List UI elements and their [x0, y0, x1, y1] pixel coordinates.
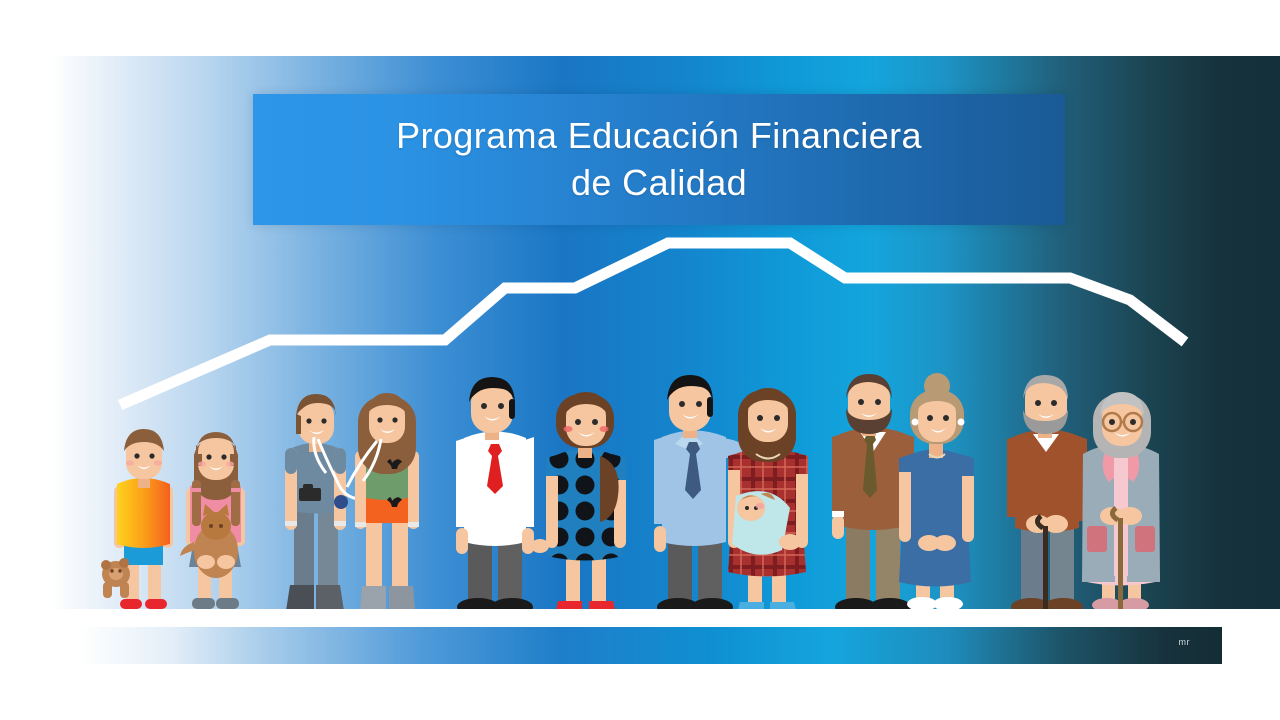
cane: [1043, 526, 1048, 609]
figure-mature-woman: [899, 373, 974, 609]
figure-child-boy: [101, 429, 173, 609]
teddy-bear-icon: [101, 558, 130, 598]
cane: [1118, 518, 1123, 609]
held-hands: [531, 539, 549, 553]
figure-young-man: [456, 377, 534, 609]
slide-canvas: Programa Educación Financiera de Calidad…: [0, 0, 1280, 720]
watermark-label: mr: [1179, 637, 1191, 647]
figure-teen-boy: [285, 394, 358, 609]
slide-title-box: Programa Educación Financiera de Calidad: [253, 94, 1065, 225]
figure-teen-girl: [347, 393, 419, 609]
figure-mother-with-baby: [728, 388, 808, 609]
figure-elder-man: [1007, 375, 1087, 609]
figure-child-girl: [180, 432, 245, 609]
footer-bar: mr: [80, 627, 1222, 664]
figure-elder-woman: [1082, 392, 1160, 609]
figure-young-woman: [531, 392, 626, 609]
page-title: Programa Educación Financiera de Calidad: [396, 113, 922, 205]
